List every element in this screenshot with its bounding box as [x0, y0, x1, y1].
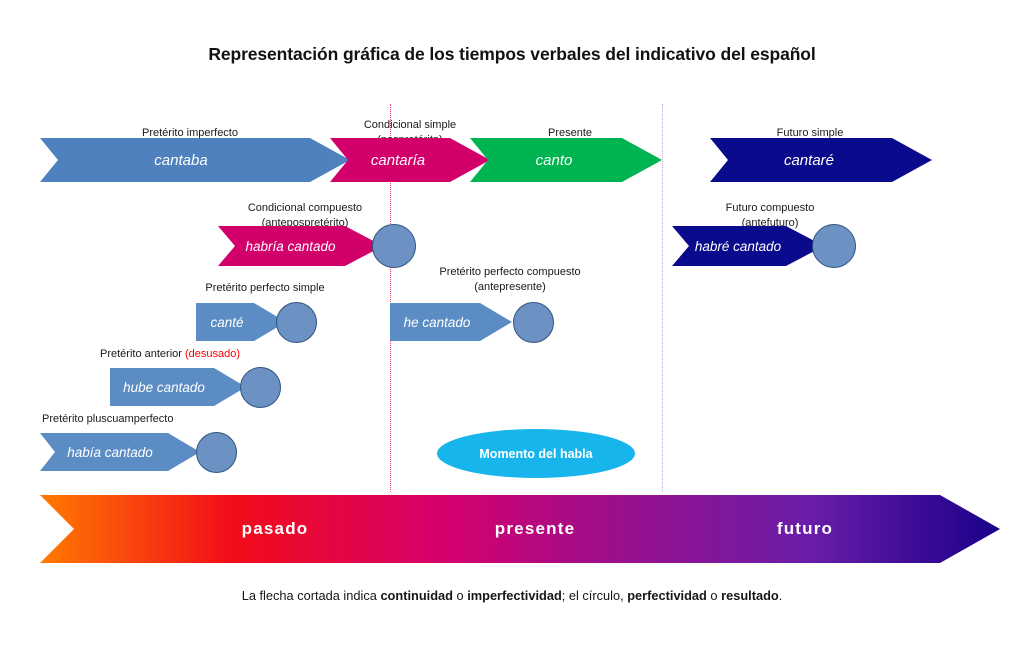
label-preterito-perfecto-compuesto: Pretérito perfecto compuesto (antepresen…: [400, 265, 620, 295]
caption-part5: .: [779, 588, 783, 603]
caption-bold-resultado: resultado: [721, 588, 779, 603]
caption-bold-continuidad: continuidad: [380, 588, 453, 603]
arrow-shape-preterito-perfecto-compuesto: [390, 303, 512, 341]
caption-bold-imperfectividad: imperfectividad: [467, 588, 562, 603]
arrow-shape-futuro-compuesto: [672, 226, 824, 266]
label-preterito-pluscuamperfecto: Pretérito pluscuamperfecto: [42, 412, 242, 427]
circle-preterito-perfecto-compuesto: [513, 302, 554, 343]
circle-futuro-compuesto: [812, 224, 856, 268]
divider-present-future: [662, 104, 663, 492]
arrow-shape-condicional-compuesto: [218, 226, 383, 266]
circle-preterito-anterior: [240, 367, 281, 408]
arrow-shape-presente: [470, 138, 662, 182]
arrow-shape-preterito-perfecto-simple: [196, 303, 286, 341]
label-preterito-anterior: Pretérito anterior (desusado): [100, 347, 280, 362]
arrow-futuro-compuesto[interactable]: habré cantado: [672, 226, 824, 266]
caption-part4: o: [707, 588, 721, 603]
page-title: Representación gráfica de los tiempos ve…: [0, 44, 1024, 65]
arrow-shape-preterito-anterior: [110, 368, 246, 406]
arrow-preterito-perfecto-simple[interactable]: canté: [196, 303, 286, 341]
timeline-zone-presente: presente: [410, 495, 660, 563]
timeline-arrow: pasado presente futuro: [40, 495, 1000, 563]
momento-del-habla: Momento del habla: [437, 429, 635, 478]
arrow-shape-preterito-imperfecto: [40, 138, 350, 182]
arrow-presente[interactable]: canto: [470, 138, 662, 182]
caption-bold-perfectividad: perfectividad: [627, 588, 707, 603]
legend-caption: La flecha cortada indica continuidad o i…: [0, 588, 1024, 603]
caption-part3: ; el círculo,: [562, 588, 627, 603]
arrow-preterito-pluscuamperfecto[interactable]: había cantado: [40, 433, 200, 471]
circle-preterito-perfecto-simple: [276, 302, 317, 343]
diagram-canvas: Representación gráfica de los tiempos ve…: [0, 0, 1024, 647]
caption-part2: o: [453, 588, 467, 603]
momento-del-habla-label: Momento del habla: [479, 447, 592, 461]
arrow-shape-preterito-pluscuamperfecto: [40, 433, 200, 471]
arrow-preterito-anterior[interactable]: hube cantado: [110, 368, 246, 406]
arrow-condicional-compuesto[interactable]: habría cantado: [218, 226, 383, 266]
label-desusado: (desusado): [185, 348, 240, 360]
timeline-zone-futuro: futuro: [680, 495, 930, 563]
caption-part1: La flecha cortada indica: [242, 588, 381, 603]
label-preterito-perfecto-simple: Pretérito perfecto simple: [185, 281, 345, 296]
arrow-preterito-perfecto-compuesto[interactable]: he cantado: [390, 303, 512, 341]
circle-condicional-compuesto: [372, 224, 416, 268]
arrow-preterito-imperfecto[interactable]: cantaba: [40, 138, 350, 182]
arrow-futuro-simple[interactable]: cantaré: [710, 138, 932, 182]
timeline-zone-pasado: pasado: [150, 495, 400, 563]
arrow-shape-futuro-simple: [710, 138, 932, 182]
circle-preterito-pluscuamperfecto: [196, 432, 237, 473]
arrow-condicional-simple[interactable]: cantaría: [330, 138, 490, 182]
arrow-shape-condicional-simple: [330, 138, 490, 182]
